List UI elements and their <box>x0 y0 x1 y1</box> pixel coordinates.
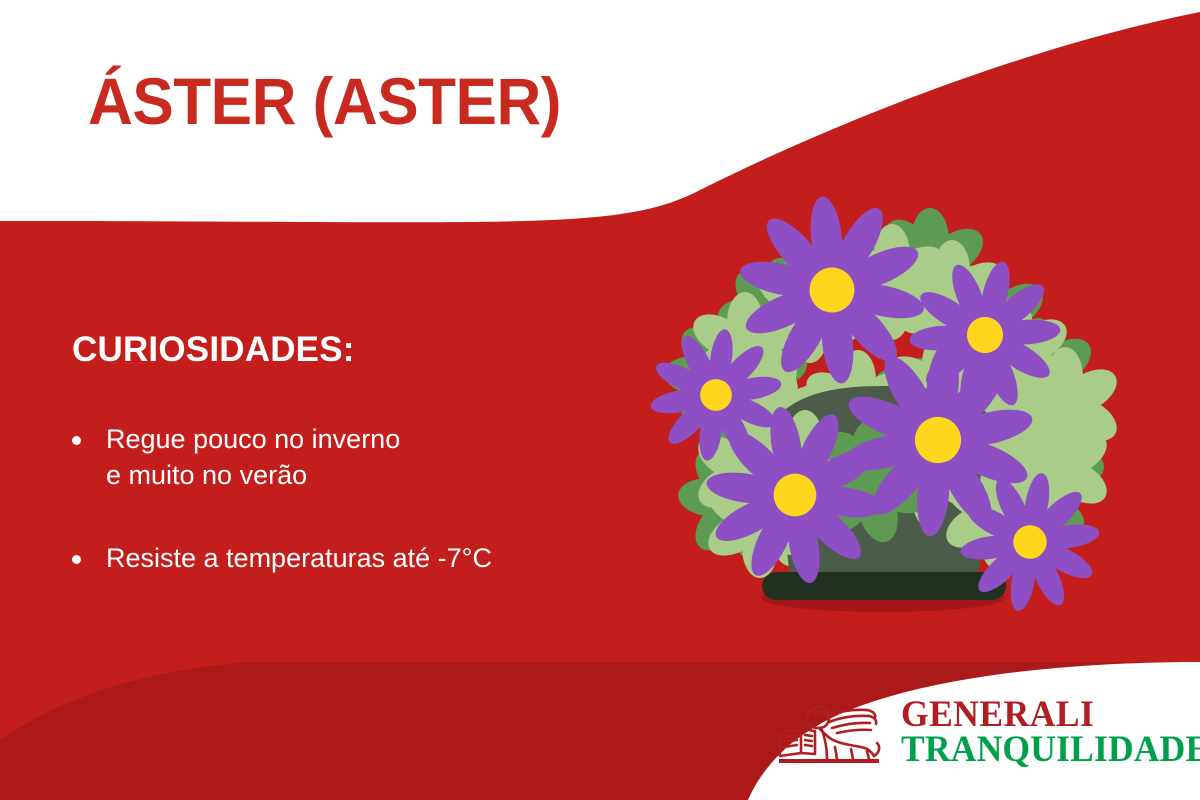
poster-canvas: ÁSTER (ASTER) CURIOSIDADES: Regue pouco … <box>0 0 1200 800</box>
generali-logo[interactable]: GENERALI TRANQUILIDADE <box>775 698 1200 768</box>
potted-aster-plant-illustration <box>630 120 1190 630</box>
fact-line-2: e muito no verão <box>106 458 672 494</box>
page-title-text: ÁSTER (ASTER) <box>88 68 561 134</box>
logo-wordmark: GENERALI TRANQUILIDADE <box>901 698 1200 768</box>
curiosities-heading: CURIOSIDADES: <box>72 330 672 370</box>
curiosities-section: CURIOSIDADES: Regue pouco no inverno e m… <box>72 330 672 577</box>
pot-base <box>762 572 1006 600</box>
logo-line-generali: GENERALI <box>901 698 1200 733</box>
page-title: ÁSTER (ASTER) <box>88 56 708 146</box>
fact-line-1: Resiste a temperaturas até -7°C <box>106 541 672 577</box>
curiosities-list: Regue pouco no inverno e muito no verão … <box>72 422 672 577</box>
fact-line-1: Regue pouco no inverno <box>106 422 672 458</box>
bullet-icon <box>72 555 81 564</box>
bullet-icon <box>72 436 81 445</box>
winged-lion-icon <box>775 699 887 767</box>
logo-line-tranquilidade: TRANQUILIDADE <box>901 733 1200 768</box>
list-item: Regue pouco no inverno e muito no verão <box>72 422 672 493</box>
list-item: Resiste a temperaturas até -7°C <box>72 541 672 577</box>
